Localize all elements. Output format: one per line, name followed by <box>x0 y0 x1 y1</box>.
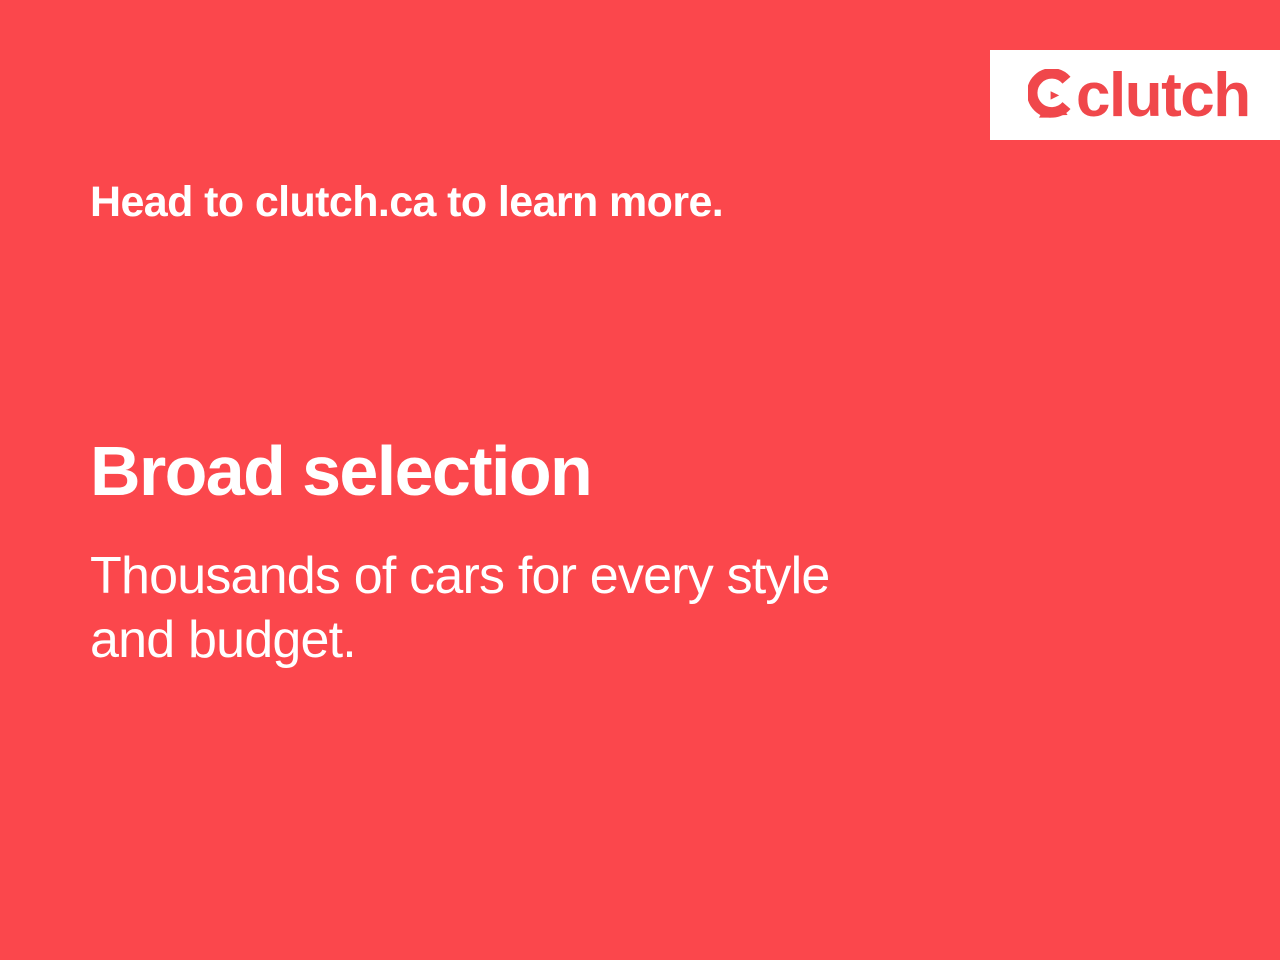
promo-slide: clutch Head to clutch.ca to learn more. … <box>0 0 1280 960</box>
clutch-c-mark-icon <box>1028 69 1074 121</box>
page-title: Broad selection <box>90 436 591 506</box>
eyebrow-text: Head to clutch.ca to learn more. <box>90 178 723 227</box>
subcopy-line-2: and budget. <box>90 608 1050 672</box>
clutch-logo-lockup: clutch <box>1028 69 1250 122</box>
clutch-logo-plate: clutch <box>990 50 1280 140</box>
clutch-wordmark: clutch <box>1076 71 1250 122</box>
subcopy-line-1: Thousands of cars for every style <box>90 544 1050 608</box>
subcopy-text: Thousands of cars for every style and bu… <box>90 544 1050 673</box>
